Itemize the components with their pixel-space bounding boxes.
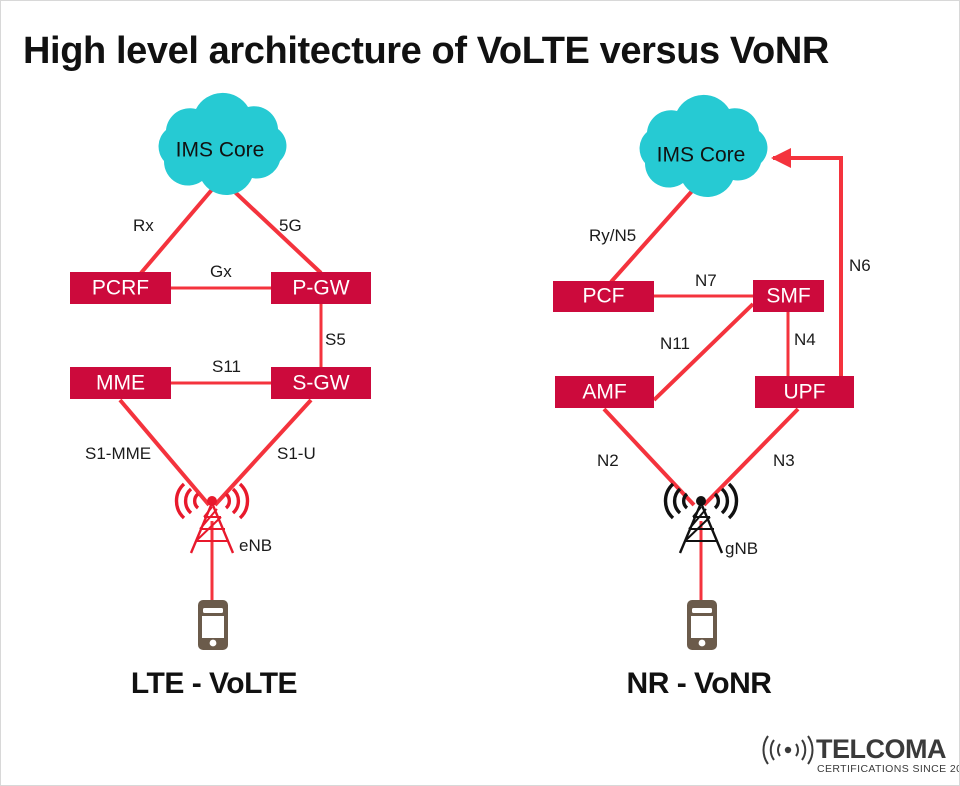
enb-tower-label: eNB: [239, 536, 272, 555]
link-gx-label: Gx: [210, 262, 232, 281]
node-smf[interactable]: SMF: [753, 280, 824, 312]
node-s-gw-label: S-GW: [292, 372, 349, 395]
ims-core-label-nr: IMS Core: [657, 144, 746, 167]
link-n7-label: N7: [695, 271, 717, 290]
node-p-gw-label: P-GW: [292, 277, 349, 300]
ims-core-label-lte: IMS Core: [176, 139, 265, 162]
link-rx-label: Rx: [133, 216, 154, 235]
node-mme-label: MME: [96, 372, 145, 395]
node-amf[interactable]: AMF: [555, 376, 654, 408]
broadcast-icon: [763, 736, 812, 764]
node-upf-label: UPF: [784, 381, 826, 404]
node-upf[interactable]: UPF: [755, 376, 854, 408]
node-amf-label: AMF: [582, 381, 626, 404]
page-title: High level architecture of VoLTE versus …: [23, 30, 829, 72]
ims-core-cloud-nr: IMS Core: [640, 95, 768, 197]
link-s1u-label: S1-U: [277, 444, 316, 463]
link-s5-label: S5: [325, 330, 346, 349]
ue-handset-nr: [687, 600, 717, 650]
link-s1mme-label: S1-MME: [85, 444, 151, 463]
brand-name: TELCOMA: [816, 734, 946, 764]
link-n2-label: N2: [597, 451, 619, 470]
telcoma-logo: TELCOMA CERTIFICATIONS SINCE 2009: [763, 734, 960, 775]
right-panel-caption: NR - VoNR: [627, 667, 773, 700]
node-p-gw[interactable]: P-GW: [271, 272, 371, 304]
link-n3-label: N3: [773, 451, 795, 470]
node-smf-label: SMF: [766, 285, 810, 308]
ims-core-cloud-lte: IMS Core: [159, 93, 287, 195]
architecture-diagram: High level architecture of VoLTE versus …: [1, 1, 960, 786]
link-n4-label: N4: [794, 330, 816, 349]
link-ryn5-label: Ry/N5: [589, 226, 636, 245]
gnb-tower-label: gNB: [725, 539, 758, 558]
diagram-page: High level architecture of VoLTE versus …: [0, 0, 960, 786]
link-5g-label: 5G: [279, 216, 302, 235]
ue-handset-lte: [198, 600, 228, 650]
right-panel-nr: IMS Core PCF SMF AMF UPF: [553, 95, 871, 700]
node-pcrf-label: PCRF: [92, 277, 149, 300]
node-pcf-label: PCF: [583, 285, 625, 308]
link-n6-label: N6: [849, 256, 871, 275]
link-n11-label: N11: [660, 334, 690, 353]
brand-tagline: CERTIFICATIONS SINCE 2009: [817, 763, 960, 775]
link-s11-label: S11: [212, 357, 241, 376]
left-panel-caption: LTE - VoLTE: [131, 667, 297, 700]
node-s-gw[interactable]: S-GW: [271, 367, 371, 399]
node-pcrf[interactable]: PCRF: [70, 272, 171, 304]
node-mme[interactable]: MME: [70, 367, 171, 399]
left-panel-lte: IMS Core PCRF P-GW MME S-GW: [70, 93, 371, 700]
node-pcf[interactable]: PCF: [553, 281, 654, 312]
